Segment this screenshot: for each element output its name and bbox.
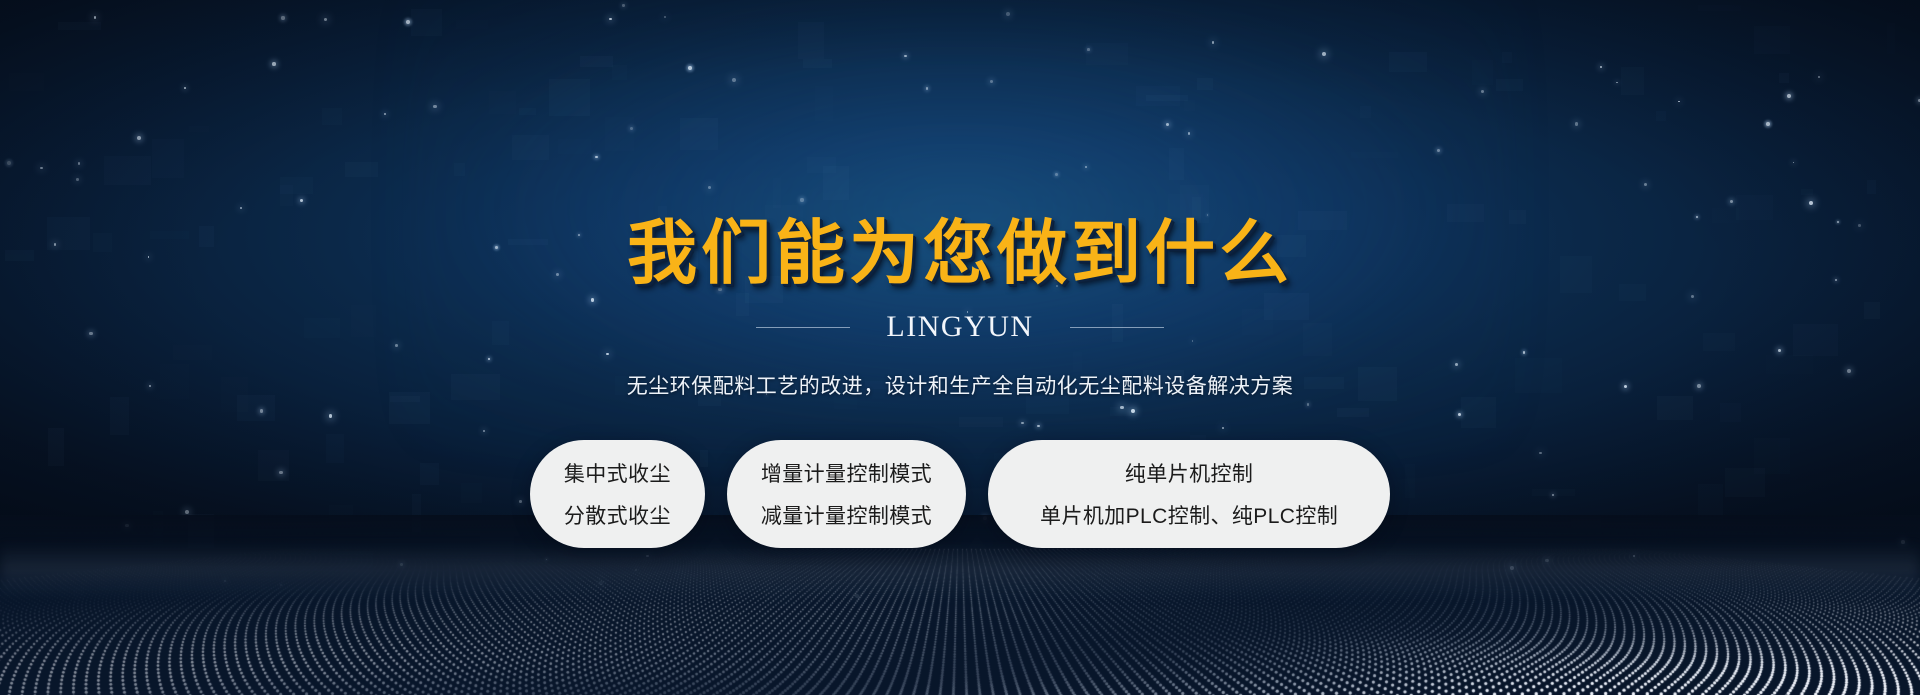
rule-left-icon bbox=[756, 327, 850, 328]
banner-content: 我们能为您做到什么 LINGYUN 无尘环保配料工艺的改进，设计和生产全自动化无… bbox=[0, 0, 1920, 695]
pill-line: 减量计量控制模式 bbox=[761, 500, 932, 530]
page-description: 无尘环保配料工艺的改进，设计和生产全自动化无尘配料设备解决方案 bbox=[627, 370, 1294, 400]
page-title: 我们能为您做到什么 bbox=[627, 218, 1293, 288]
pill-line: 纯单片机控制 bbox=[1125, 458, 1253, 488]
feature-pill-metering-control-mode[interactable]: 增量计量控制模式 减量计量控制模式 bbox=[727, 440, 966, 548]
feature-pill-controller-type[interactable]: 纯单片机控制 单片机加PLC控制、纯PLC控制 bbox=[988, 440, 1390, 548]
pill-line: 分散式收尘 bbox=[564, 500, 671, 530]
subtitle-row: LINGYUN bbox=[756, 310, 1163, 344]
rule-right-icon bbox=[1070, 327, 1164, 328]
pill-line: 集中式收尘 bbox=[564, 458, 671, 488]
feature-pill-dust-collection[interactable]: 集中式收尘 分散式收尘 bbox=[530, 440, 705, 548]
pill-line: 单片机加PLC控制、纯PLC控制 bbox=[1040, 500, 1338, 530]
hero-banner: 我们能为您做到什么 LINGYUN 无尘环保配料工艺的改进，设计和生产全自动化无… bbox=[0, 0, 1920, 695]
subtitle-english: LINGYUN bbox=[886, 310, 1033, 344]
pill-line: 增量计量控制模式 bbox=[761, 458, 932, 488]
feature-pill-list: 集中式收尘 分散式收尘 增量计量控制模式 减量计量控制模式 纯单片机控制 单片机… bbox=[530, 440, 1390, 548]
